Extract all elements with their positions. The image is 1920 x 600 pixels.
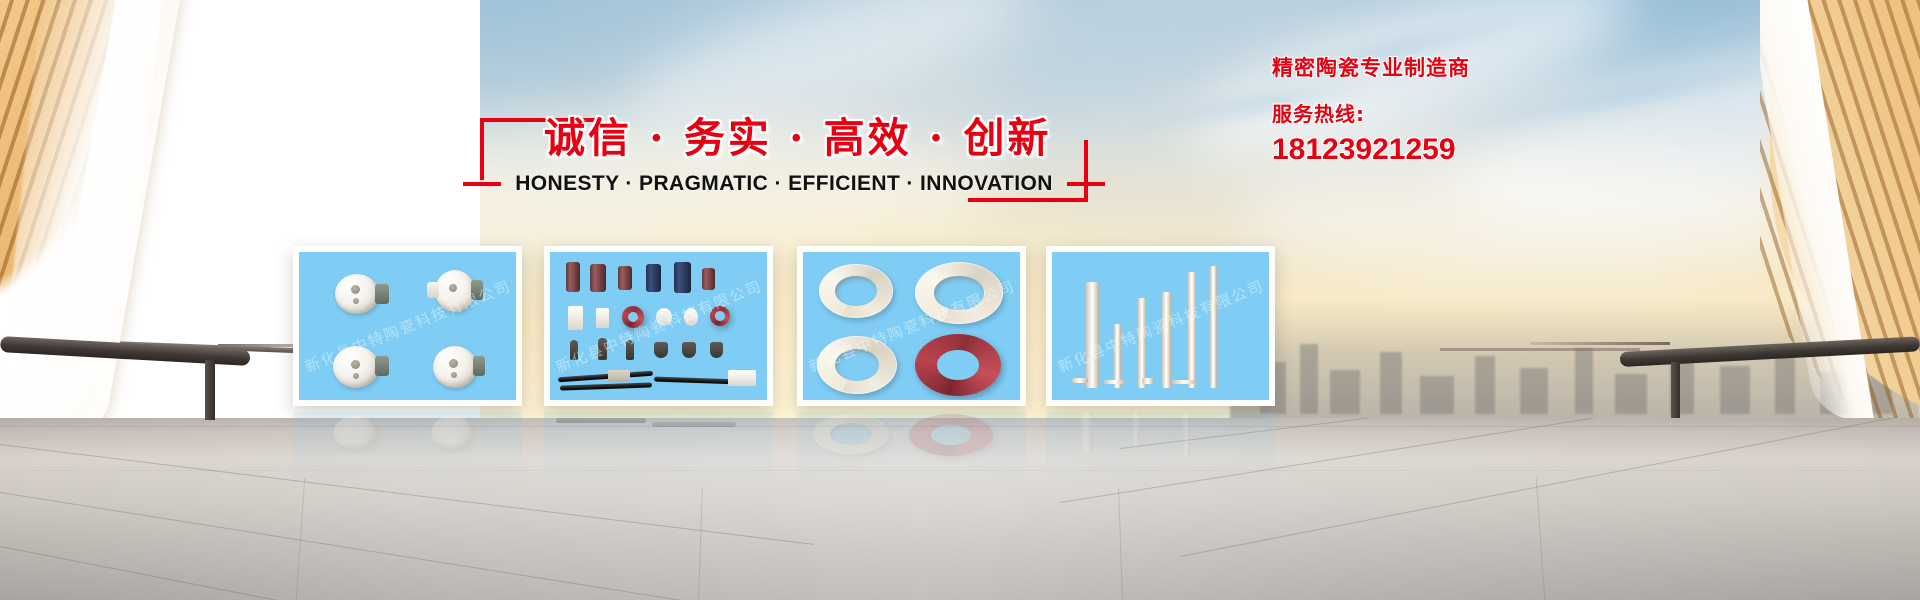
panel-reflection-1 — [293, 412, 522, 488]
banner-stage: 诚信 · 务实 · 高效 · 创新 HONESTY · PRAGMATIC · … — [0, 0, 1920, 600]
panel-reflection-3 — [797, 412, 1026, 488]
product-image-3: 新化县中特陶瓷科技有限公司 — [803, 252, 1020, 400]
product-image-2: 新化县中特陶瓷科技有限公司 — [550, 252, 767, 400]
panel-reflection-4 — [1046, 412, 1275, 488]
product-panel-1[interactable]: 新化县中特陶瓷科技有限公司 — [293, 246, 522, 406]
product-image-1: 新化县中特陶瓷科技有限公司 — [299, 252, 516, 400]
product-panel-2[interactable]: 新化县中特陶瓷科技有限公司 — [544, 246, 773, 406]
product-panel-4[interactable]: 新化县中特陶瓷科技有限公司 — [1046, 246, 1275, 406]
product-panel-3[interactable]: 新化县中特陶瓷科技有限公司 — [797, 246, 1026, 406]
product-panel-group: 新化县中特陶瓷科技有限公司 — [0, 0, 1920, 600]
product-image-4: 新化县中特陶瓷科技有限公司 — [1052, 252, 1269, 400]
panel-reflection-2 — [544, 412, 773, 488]
